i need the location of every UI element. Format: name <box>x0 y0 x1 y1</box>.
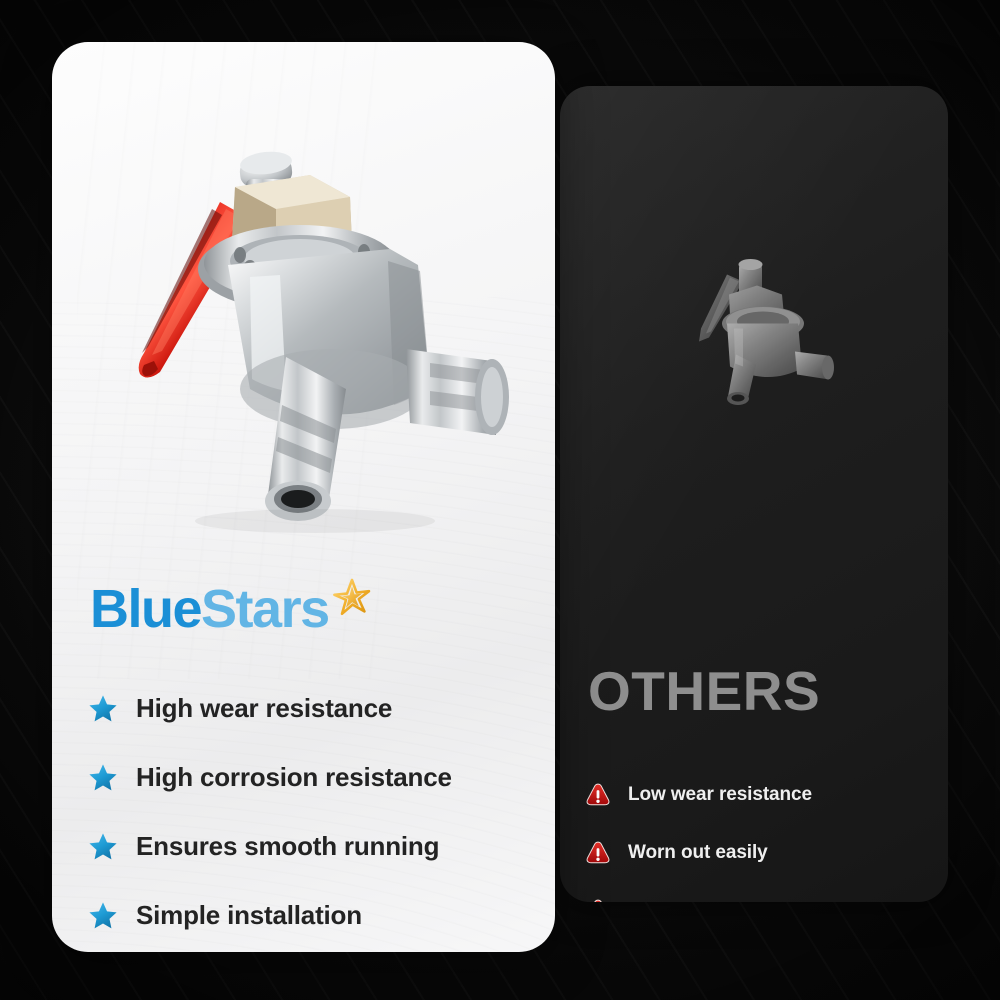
star-icon <box>88 694 118 724</box>
star-icon <box>88 763 118 793</box>
bluestars-logo: Blue Stars <box>90 582 371 636</box>
list-item-label: Easy to get stuck <box>628 900 783 902</box>
list-item: Simple installation <box>88 881 528 950</box>
list-item-label: High corrosion resistance <box>136 762 452 793</box>
warning-triangle-icon <box>584 897 612 902</box>
list-item-label: Worn out easily <box>628 842 768 864</box>
others-panel: OTHERS Low wear resistance <box>560 86 948 902</box>
star-icon <box>88 832 118 862</box>
comparison-infographic: OTHERS Low wear resistance <box>0 0 1000 1000</box>
list-item-label: High wear resistance <box>136 693 392 724</box>
logo-text-stars: Stars <box>201 582 329 636</box>
list-item-label: Low wear resistance <box>628 784 812 806</box>
list-item: Low wear resistance <box>584 766 934 824</box>
list-item: High corrosion resistance <box>88 743 528 812</box>
bluestars-panel: Blue Stars <box>52 42 555 952</box>
others-product-image <box>668 248 848 424</box>
list-item: Worn out easily <box>584 824 934 882</box>
warning-triangle-icon <box>584 781 612 809</box>
star-icon <box>88 901 118 931</box>
bluestars-feature-list: High wear resistance High corrosion resi… <box>88 674 528 950</box>
list-item: High wear resistance <box>88 674 528 743</box>
bluestars-product-image <box>100 137 520 537</box>
list-item-label: Simple installation <box>136 900 362 931</box>
others-title: OTHERS <box>588 664 820 719</box>
list-item: Ensures smooth running <box>88 812 528 881</box>
others-drawback-list: Low wear resistance Worn out easily Easy… <box>584 766 934 902</box>
warning-triangle-icon <box>584 839 612 867</box>
list-item: Easy to get stuck <box>584 882 934 902</box>
list-item-label: Ensures smooth running <box>136 831 439 862</box>
logo-text-blue: Blue <box>90 582 201 636</box>
star-icon <box>331 578 371 620</box>
